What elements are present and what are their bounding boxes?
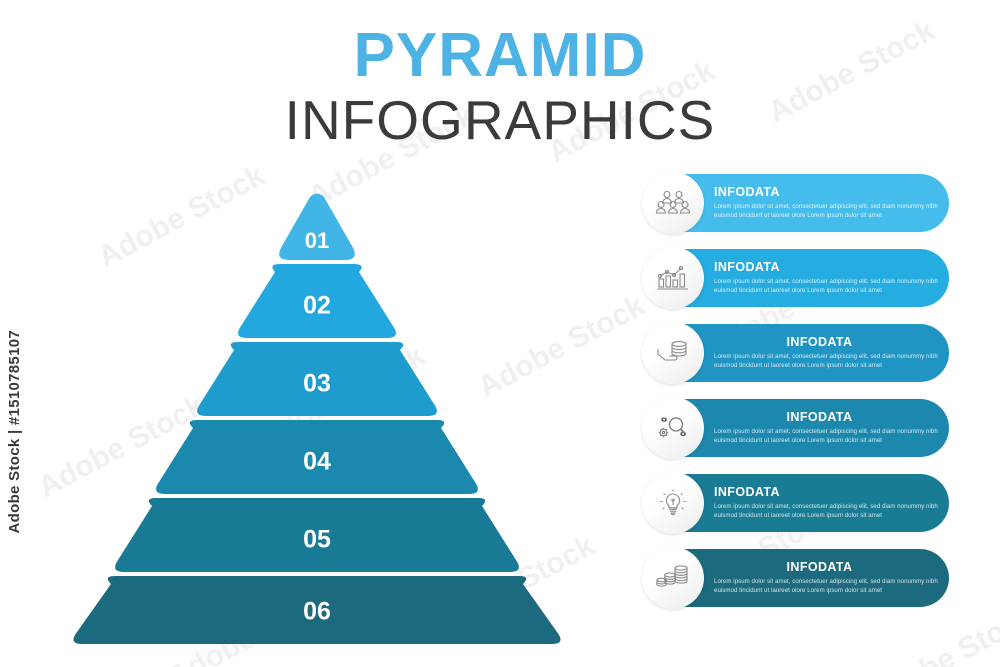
- stock-watermark-label: Adobe Stock | #1510785107: [6, 330, 23, 533]
- pyramid-tier-05-label: 05: [303, 526, 331, 554]
- card-title: INFODATA: [714, 560, 939, 576]
- infodata-card[interactable]: INFODATA Lorem ipsum dolor sit amet, con…: [644, 399, 949, 457]
- card-description: Lorem ipsum dolor sit amet, consectetuer…: [714, 352, 939, 371]
- pyramid-tier-03-label: 03: [303, 370, 331, 398]
- infodata-card-list: INFODATA Lorem ipsum dolor sit amet, con…: [644, 174, 949, 607]
- card-description: Lorem ipsum dolor sit amet, consectetuer…: [714, 502, 939, 521]
- card-title: INFODATA: [714, 260, 939, 276]
- hand-coins-icon: [642, 322, 704, 384]
- card-title: INFODATA: [714, 335, 939, 351]
- coin-stacks-icon: [642, 547, 704, 609]
- people-group-icon: [642, 172, 704, 234]
- card-body: INFODATA Lorem ipsum dolor sit amet, con…: [714, 260, 939, 296]
- pyramid-chart: 01 02 03 04 05 06: [40, 180, 600, 650]
- pyramid-tier-06-label: 06: [303, 598, 331, 626]
- card-title: INFODATA: [714, 185, 939, 201]
- pyramid-tier-02-label: 02: [303, 292, 331, 320]
- card-description: Lorem ipsum dolor sit amet, consectetuer…: [714, 202, 939, 221]
- card-body: INFODATA Lorem ipsum dolor sit amet, con…: [714, 410, 939, 446]
- pyramid-tier-04-label: 04: [303, 448, 331, 476]
- bar-chart-line-icon: [642, 247, 704, 309]
- infographic-canvas: Adobe Stock Adobe Stock Adobe Stock Adob…: [0, 0, 1000, 667]
- card-body: INFODATA Lorem ipsum dolor sit amet, con…: [714, 560, 939, 596]
- card-body: INFODATA Lorem ipsum dolor sit amet, con…: [714, 485, 939, 521]
- card-description: Lorem ipsum dolor sit amet, consectetuer…: [714, 427, 939, 446]
- card-title: INFODATA: [714, 485, 939, 501]
- gears-magnifier-icon: [642, 397, 704, 459]
- page-title: PYRAMID INFOGRAPHICS: [0, 24, 1000, 154]
- infodata-card[interactable]: INFODATA Lorem ipsum dolor sit amet, con…: [644, 474, 949, 532]
- lightbulb-icon: [642, 472, 704, 534]
- card-body: INFODATA Lorem ipsum dolor sit amet, con…: [714, 335, 939, 371]
- infodata-card[interactable]: INFODATA Lorem ipsum dolor sit amet, con…: [644, 549, 949, 607]
- card-description: Lorem ipsum dolor sit amet, consectetuer…: [714, 577, 939, 596]
- infodata-card[interactable]: INFODATA Lorem ipsum dolor sit amet, con…: [644, 324, 949, 382]
- infodata-card[interactable]: INFODATA Lorem ipsum dolor sit amet, con…: [644, 174, 949, 232]
- title-main: PYRAMID: [0, 24, 1000, 87]
- pyramid-tier-01-label: 01: [305, 228, 329, 253]
- watermark-tile: Adobe Stock: [863, 599, 1000, 667]
- card-description: Lorem ipsum dolor sit amet, consectetuer…: [714, 277, 939, 296]
- card-title: INFODATA: [714, 410, 939, 426]
- title-subtitle: INFOGRAPHICS: [0, 87, 1000, 154]
- card-body: INFODATA Lorem ipsum dolor sit amet, con…: [714, 185, 939, 221]
- infodata-card[interactable]: INFODATA Lorem ipsum dolor sit amet, con…: [644, 249, 949, 307]
